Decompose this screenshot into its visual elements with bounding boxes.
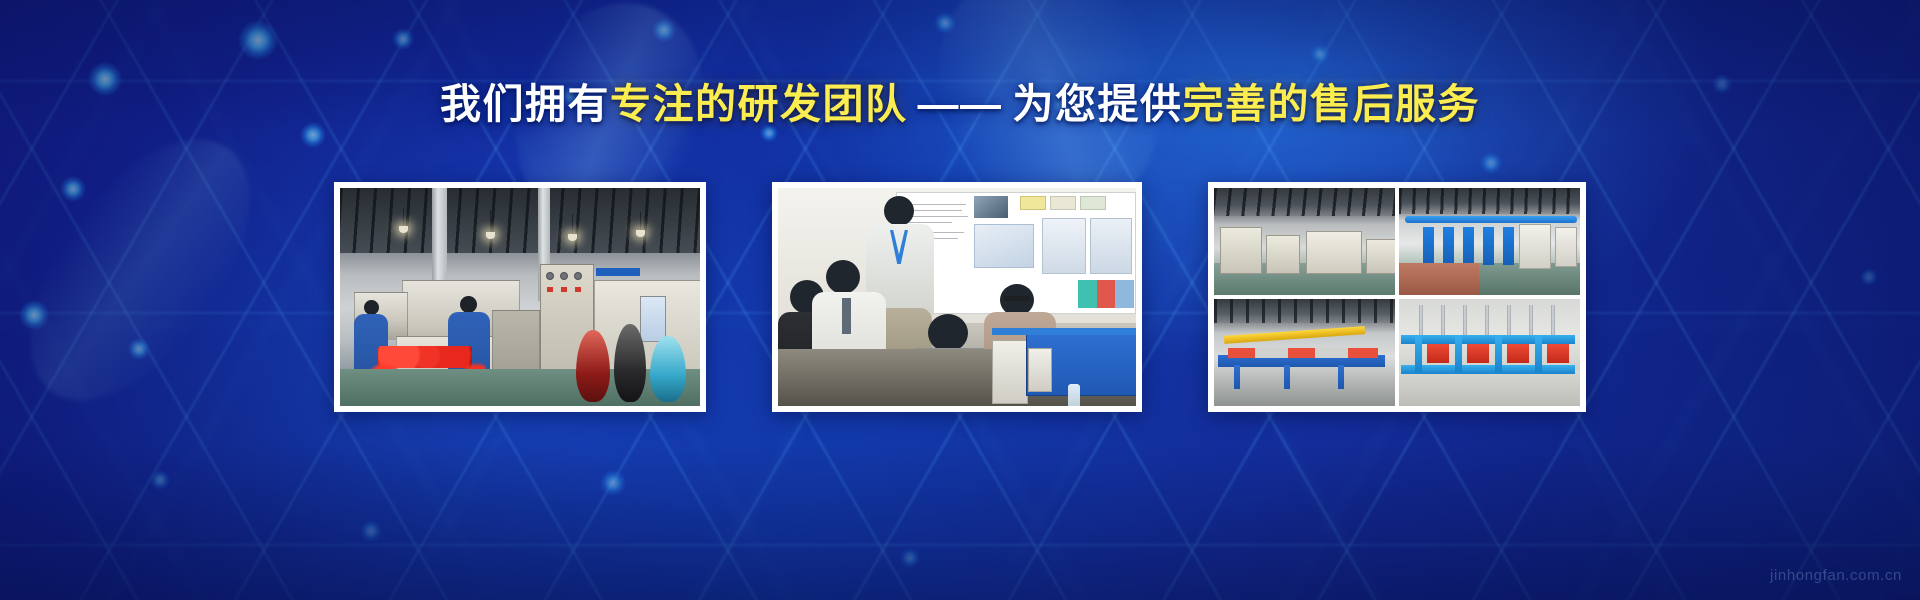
oven-unit (1266, 235, 1300, 274)
control-knob-icon (560, 272, 568, 280)
team-meeting-photo[interactable] (772, 182, 1142, 412)
board-diagram (974, 224, 1034, 268)
red-fixture (1547, 344, 1569, 363)
hanging-post-icon (1551, 305, 1555, 335)
worker-head (364, 300, 379, 315)
facility-grid-photo[interactable] (1208, 182, 1586, 412)
banner-headline: 我们拥有专注的研发团队——为您提供完善的售后服务 (0, 84, 1920, 125)
necktie-icon (842, 298, 851, 334)
blue-rack-leg (1535, 335, 1542, 371)
hanging-post-icon (1419, 305, 1423, 335)
team-meeting-photo-image (778, 188, 1136, 406)
plating-tank (1483, 227, 1494, 266)
board-color-chart (1078, 280, 1134, 308)
board-diagram (1042, 218, 1086, 274)
ceiling-lamp-icon (399, 226, 408, 233)
factory-floor (340, 369, 700, 406)
overhead-pipe (1405, 216, 1577, 223)
worker-head (460, 296, 477, 313)
person-head-center (826, 260, 860, 294)
control-knob-icon (574, 272, 582, 280)
conveyor-leg (1284, 365, 1290, 389)
control-cabinet (1555, 227, 1577, 268)
headline-segment-4: 完善的售后服务 (1183, 81, 1481, 127)
equipment-model-cabinet (1028, 348, 1052, 392)
plating-tank (1443, 227, 1454, 266)
conveyor-leg (1338, 365, 1344, 389)
plating-tank (1423, 227, 1434, 266)
hanging-post-icon (1507, 305, 1511, 335)
board-badge (1020, 196, 1046, 210)
red-floor-strip (1399, 263, 1479, 295)
blue-rack-leg (1455, 335, 1462, 371)
board-badge (1050, 196, 1076, 210)
board-text-line (904, 204, 966, 205)
red-fixture (1507, 344, 1529, 363)
lamp-wire (572, 214, 573, 234)
board-text-line (904, 222, 952, 223)
factory-roof (340, 188, 700, 253)
red-fixture (1427, 344, 1449, 363)
indicator-light-icon (575, 287, 581, 292)
hanging-post-icon (1529, 305, 1533, 335)
site-watermark: jinhongfan.com.cn (1770, 567, 1902, 584)
right-panel-sign (640, 296, 666, 342)
control-cabinet (1519, 224, 1551, 269)
headline-segment-1: 我们拥有 (440, 81, 610, 127)
lamp-wire (490, 210, 491, 232)
facility-quadrant-oven (1214, 188, 1395, 295)
hanging-post-icon (1485, 305, 1489, 335)
machine-label (596, 268, 640, 276)
facility-grid-photo-image (1214, 188, 1580, 406)
equipment-rail (992, 328, 1136, 335)
water-bottle-icon (1068, 384, 1080, 406)
ceiling-lamp-icon (636, 230, 645, 237)
blue-rack-leg (1415, 335, 1422, 371)
workpiece-row (1228, 348, 1378, 358)
person-head-standing (884, 196, 914, 226)
blue-rack-frame (1401, 365, 1575, 374)
oven-unit (1306, 231, 1362, 274)
headline-segment-2: 专注的研发团队 (610, 81, 908, 127)
hanging-post-icon (1463, 305, 1467, 335)
production-line-photo[interactable] (334, 182, 706, 412)
board-photo-thumb (974, 196, 1008, 218)
facility-quadrant-line (1399, 299, 1580, 406)
facility-quadrant-conveyor (1214, 299, 1395, 406)
workshop-roof (1399, 188, 1580, 214)
crane-beam (1224, 326, 1365, 344)
facility-quadrant-tanks (1399, 188, 1580, 295)
person-head-front (928, 314, 968, 352)
workshop-floor (1399, 370, 1580, 406)
hanging-post-icon (1441, 305, 1445, 335)
control-knob-icon (546, 272, 554, 280)
workshop-roof (1214, 188, 1395, 216)
production-line-photo-image (340, 188, 700, 406)
lamp-wire (403, 208, 404, 226)
board-text-line (904, 216, 968, 217)
workshop-roof (1214, 299, 1395, 323)
plating-tank (1463, 227, 1474, 266)
indicator-light-icon (547, 287, 553, 292)
lamp-wire (640, 212, 641, 230)
board-badge (1080, 196, 1106, 210)
photo-gallery (0, 182, 1920, 412)
ceiling-lamp-icon (568, 234, 577, 241)
headline-segment-3: 为您提供 (1013, 81, 1183, 127)
indicator-light-icon (561, 287, 567, 292)
oven-unit (1366, 239, 1395, 273)
board-diagram (1090, 218, 1132, 274)
headline-separator: —— (908, 81, 1013, 127)
workshop-floor (1214, 378, 1395, 406)
plating-tank (1503, 227, 1514, 266)
conveyor-leg (1234, 365, 1240, 389)
eyeglasses-icon (1004, 296, 1030, 301)
equipment-model-body (992, 340, 1028, 404)
promo-banner: 我们拥有专注的研发团队——为您提供完善的售后服务 (0, 0, 1920, 600)
oven-unit (1220, 227, 1262, 274)
ceiling-lamp-icon (486, 232, 495, 239)
red-fixture (1467, 344, 1489, 363)
blue-rack-leg (1495, 335, 1502, 371)
